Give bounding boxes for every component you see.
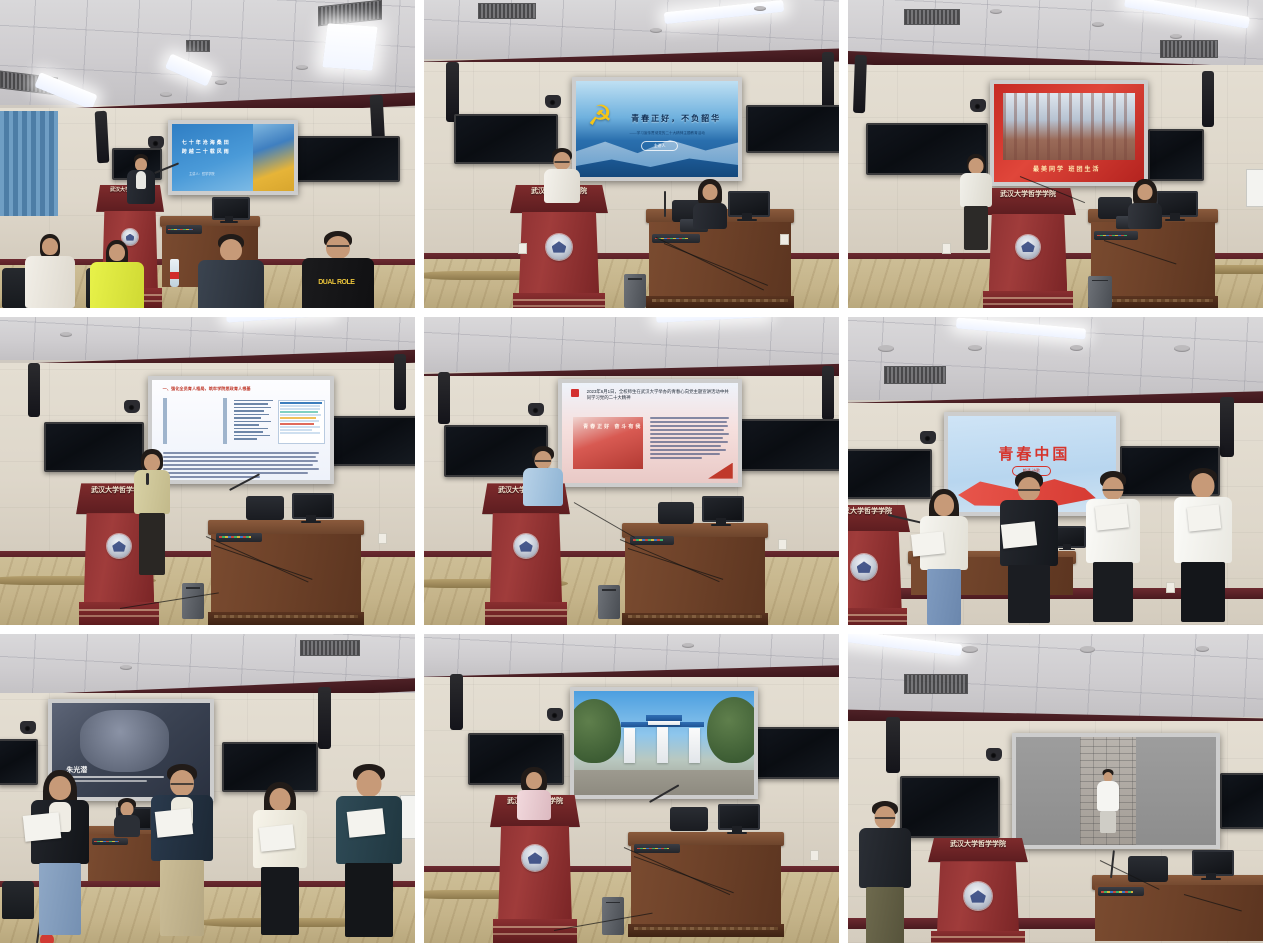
desk-front — [631, 845, 781, 925]
ceiling-vent-icon — [1160, 40, 1218, 58]
reciter-person — [996, 471, 1062, 625]
podium-base — [983, 291, 1073, 308]
ceiling-vent-icon — [186, 40, 210, 52]
glasses-icon — [535, 460, 551, 462]
slide-photo-panel — [1003, 93, 1135, 160]
slide-archway-pillar — [657, 726, 668, 763]
university-emblem-icon — [964, 882, 992, 910]
wall-speaker-icon — [822, 52, 834, 110]
glasses-icon — [1103, 489, 1124, 491]
head — [1138, 184, 1153, 200]
head — [526, 772, 542, 789]
slide-archway-pillar — [689, 728, 700, 763]
legs — [1100, 811, 1116, 833]
smoke-detector-icon — [1170, 34, 1182, 39]
head — [703, 184, 718, 200]
pc-tower — [1088, 276, 1112, 308]
slide-poster-caption: 青春正好 奋斗有我 — [583, 423, 642, 430]
university-emblem-icon — [546, 234, 572, 260]
photo-cell-6: 青春中国 朗诵·诗歌 武汉大学哲学学院 — [848, 317, 1263, 625]
av-console-9 — [1098, 887, 1144, 896]
wall-speaker-icon — [318, 687, 331, 749]
podium-base — [848, 608, 907, 625]
desk-kick — [208, 612, 364, 625]
slide-title: 青春正好，不负韶华 — [631, 113, 721, 124]
water-bottle — [170, 259, 179, 287]
pc-tower — [182, 583, 204, 619]
slide-tree-motif — [707, 697, 758, 764]
smoke-detector-icon — [296, 65, 308, 70]
wall-speaker-icon — [1220, 397, 1234, 457]
photo-cell-8: 武汉大学哲学学院 — [424, 634, 839, 943]
lecture-hall-scene-2: ☭ 青春正好，不负韶华 ——学习宣传贯彻党的二十大精神主题教育活动 主讲人 武汉… — [424, 0, 839, 308]
photo-collage-grid: 七十年沧海桑田 跨越二十载风雨 主讲人：哲学学院 武汉大学哲学学院 — [0, 0, 1268, 952]
torso — [114, 815, 140, 837]
torso — [90, 262, 144, 308]
monitor-stand — [306, 515, 315, 523]
slide-subtitle: 主讲人：哲学学院 — [189, 171, 215, 176]
camera-icon — [148, 136, 164, 149]
smoke-detector-icon — [120, 665, 132, 670]
slide-left-block — [163, 398, 167, 444]
glasses-icon — [327, 245, 349, 247]
av-console-8 — [634, 844, 680, 853]
slide-content-1: 七十年沧海桑田 跨越二十载风雨 主讲人：哲学学院 — [172, 124, 294, 191]
wall-speaker-icon — [853, 55, 867, 113]
side-display-right — [740, 419, 839, 471]
photo-cell-3: 最美同学 班团生活 武汉大学哲学学院 — [848, 0, 1263, 308]
audience-person — [88, 240, 146, 308]
head — [357, 770, 382, 797]
slide-content-2: ☭ 青春正好，不负韶华 ——学习宣传贯彻党的二十大精神主题教育活动 主讲人 — [576, 81, 738, 177]
main-projection-screen-1: 七十年沧海桑田 跨越二十载风雨 主讲人：哲学学院 — [168, 120, 298, 195]
legs — [39, 863, 81, 935]
head — [144, 454, 160, 471]
wall-speaker-icon — [394, 354, 406, 410]
pc-tower — [624, 274, 646, 308]
side-display-left — [44, 422, 144, 472]
torso — [960, 173, 992, 207]
wall-speaker-icon — [1202, 71, 1214, 127]
side-display-left — [900, 776, 1000, 838]
ceiling-light-icon — [322, 23, 377, 70]
handheld-microphone-icon — [146, 473, 149, 485]
podium-6: 武汉大学哲学学院 — [848, 505, 910, 625]
podium-body — [498, 826, 572, 921]
slide-heading: 2023年6月1日，全校师生在武汉大学举办的青春心向党主题宣讲活动中共同学习党的… — [587, 389, 731, 402]
slide-body-text — [650, 417, 729, 461]
head — [1192, 473, 1215, 498]
slide-ground — [574, 770, 754, 795]
main-projection-screen-9 — [1012, 733, 1220, 849]
av-console-1 — [166, 225, 202, 234]
head — [220, 239, 242, 261]
podium-body — [490, 513, 562, 604]
lecture-hall-scene-3: 最美同学 班团生活 武汉大学哲学学院 — [848, 0, 1263, 308]
main-projection-screen-2: ☭ 青春正好，不负韶华 ——学习宣传贯彻党的二十大精神主题教育活动 主讲人 — [572, 77, 742, 181]
ceiling-5 — [424, 317, 839, 372]
window-curtain — [0, 111, 58, 216]
smoke-detector-icon — [650, 28, 662, 33]
wall-speaker-icon — [450, 674, 463, 730]
photo-cell-7: 朱光潜 — [0, 634, 415, 943]
desk-front — [625, 537, 765, 614]
torso — [523, 468, 563, 506]
whiteboard — [1246, 169, 1263, 207]
slide-heading: 一、强化全员育人格局，筑牢学院思政育人根基 — [163, 386, 251, 392]
wall-speaker-icon — [438, 372, 450, 424]
slide-title-line1: 七十年沧海桑田 — [182, 139, 231, 146]
script-paper — [1187, 504, 1221, 531]
podium-label: 武汉大学哲学学院 — [928, 839, 1028, 849]
desk-monitor-5 — [702, 496, 740, 526]
ceiling-vent-icon — [300, 640, 360, 656]
camera-icon — [547, 708, 563, 721]
script-paper — [259, 825, 295, 852]
shirt-graphic: DUAL ROLE — [318, 279, 354, 286]
wall-speaker-icon — [28, 363, 40, 417]
script-paper — [155, 808, 194, 838]
script-paper — [911, 532, 945, 557]
desk-monitor-4 — [292, 493, 330, 523]
script-paper — [23, 812, 62, 842]
desk-monitor-9 — [1192, 850, 1230, 880]
university-emblem-icon — [514, 534, 538, 558]
speaker-person-2 — [542, 148, 582, 222]
slide-caption: 最美同学 班团生活 — [1033, 164, 1101, 173]
chair-back — [1128, 856, 1168, 882]
slide-tree-motif — [570, 699, 621, 763]
slide-archway-plaque — [648, 721, 680, 725]
chair-back — [658, 502, 694, 524]
head — [42, 238, 58, 255]
reciter-person — [332, 764, 406, 943]
podium-base — [485, 602, 568, 625]
glasses-icon — [171, 783, 194, 785]
reciter-person — [1170, 468, 1236, 625]
slide-tree-diagram — [234, 400, 273, 442]
script-paper — [347, 808, 386, 838]
wall-outlet — [778, 539, 787, 550]
university-emblem-icon — [522, 845, 548, 871]
glasses-icon — [1018, 489, 1040, 491]
monitor-stand — [732, 826, 741, 834]
head — [326, 236, 350, 259]
head — [270, 788, 291, 811]
slide-photo-panel — [253, 124, 294, 191]
slide-person-figure — [1088, 769, 1128, 842]
wall-speaker-icon — [822, 366, 834, 420]
main-projection-screen-8 — [570, 687, 758, 799]
torso — [693, 203, 727, 229]
desk-monitor-2 — [728, 191, 766, 221]
presenter-person-4 — [132, 449, 172, 578]
audience-person: DUAL ROLE — [300, 231, 376, 308]
av-console-4 — [216, 533, 262, 542]
photo-cell-5: 2023年6月1日，全校师生在武汉大学举办的青春心向党主题宣讲活动中共同学习党的… — [424, 317, 839, 625]
monitor-stand — [742, 213, 751, 221]
torso — [1097, 781, 1119, 811]
torso — [1128, 203, 1162, 229]
glasses-icon — [555, 161, 570, 163]
legs — [964, 206, 988, 250]
slide-title-line2: 跨越二十载风雨 — [182, 148, 231, 155]
shirt — [136, 171, 146, 189]
podium-base — [931, 931, 1025, 943]
side-display-right — [288, 136, 400, 182]
audience-person — [196, 234, 266, 308]
reciter-person — [1082, 471, 1144, 625]
wall-outlet — [518, 243, 527, 254]
podium-top: 武汉大学哲学学院 — [928, 838, 1028, 862]
camera-icon — [970, 99, 986, 112]
camera-icon — [986, 748, 1002, 761]
slide-archway-pillar — [624, 728, 635, 763]
desk-kick — [646, 296, 794, 308]
slide-content-9 — [1016, 737, 1216, 845]
legs — [1008, 565, 1050, 623]
main-projection-screen-3: 最美同学 班团生活 — [990, 80, 1148, 186]
head — [934, 494, 954, 516]
legs — [261, 867, 299, 935]
photo-cell-1: 七十年沧海桑田 跨越二十载风雨 主讲人：哲学学院 武汉大学哲学学院 — [0, 0, 415, 308]
smoke-detector-icon — [878, 345, 894, 352]
assistant-person-3 — [1126, 179, 1164, 241]
lecture-hall-scene-4: 一、强化全员育人格局，筑牢学院思政育人根基 — [0, 317, 415, 625]
chair-back — [246, 496, 284, 520]
slide-title: 青春中国 — [998, 443, 1070, 464]
lecture-hall-scene-6: 青春中国 朗诵·诗歌 武汉大学哲学学院 — [848, 317, 1263, 625]
slide-subtitle: ——学习宣传贯彻党的二十大精神主题教育活动 — [629, 131, 704, 136]
torso — [198, 260, 264, 308]
wall-speaker-icon — [886, 717, 900, 773]
torso — [517, 790, 551, 820]
reciter-person — [916, 489, 972, 625]
reciter-person — [26, 770, 94, 943]
pc-tower — [598, 585, 620, 619]
cpc-emblem-icon: ☭ — [587, 102, 612, 130]
wall-outlet — [942, 243, 951, 254]
photo-cell-4: 一、强化全员育人格局，筑牢学院思政育人根基 — [0, 317, 415, 625]
legs — [866, 887, 904, 943]
slide-body-text — [163, 452, 320, 480]
photo-cell-9: 武汉大学哲学学院 — [848, 634, 1263, 943]
reciter-person — [146, 764, 218, 943]
lecture-hall-scene-9: 武汉大学哲学学院 — [848, 634, 1263, 943]
legs — [1181, 562, 1225, 622]
head — [121, 802, 134, 816]
slide-content-8 — [574, 691, 754, 795]
desk-monitor-1 — [212, 197, 246, 223]
script-paper — [1001, 521, 1037, 548]
ceiling-vent-icon — [904, 674, 968, 694]
podium-base — [493, 919, 578, 943]
wall-outlet — [810, 850, 819, 861]
podium-3: 武汉大学哲学学院 — [980, 188, 1076, 308]
desk-kick — [628, 924, 784, 937]
legs — [1093, 562, 1133, 622]
script-paper — [1095, 503, 1129, 530]
podium-base — [79, 602, 160, 625]
ceiling-vent-icon — [884, 366, 946, 384]
monitor-stand — [1063, 544, 1070, 550]
pc-tower — [602, 897, 624, 935]
torso — [134, 470, 170, 514]
lecture-hall-scene-7: 朱光潜 — [0, 634, 415, 943]
wall-outlet — [780, 234, 789, 245]
reciter-person — [248, 782, 312, 943]
wall-speaker-icon — [446, 62, 459, 122]
university-emblem-icon — [1016, 235, 1040, 259]
university-emblem-icon — [851, 554, 877, 580]
photo-cell-2: ☭ 青春正好，不负韶华 ——学习宣传贯彻党的二十大精神主题教育活动 主讲人 武汉… — [424, 0, 839, 308]
slide-content-4: 一、强化全员育人格局，筑牢学院思政育人根基 — [152, 380, 330, 480]
torso — [859, 828, 911, 888]
side-display-right — [1220, 773, 1263, 829]
head — [969, 158, 984, 174]
chair-back — [670, 807, 708, 831]
monitor-stand — [1170, 213, 1179, 221]
lecture-hall-scene-8: 武汉大学哲学学院 — [424, 634, 839, 943]
desk-kick — [622, 613, 768, 625]
speaker-person-1 — [124, 154, 158, 246]
podium-label: 武汉大学哲学学院 — [848, 506, 910, 516]
monitor-stand — [1206, 873, 1215, 881]
university-emblem-icon — [107, 534, 131, 558]
slide-mid-block — [223, 398, 227, 444]
head — [49, 776, 71, 800]
operator-person-7 — [112, 798, 142, 841]
ceiling-vent-icon — [478, 3, 536, 19]
assistant-person-2 — [690, 179, 730, 241]
camera-icon — [920, 431, 936, 444]
side-display-right — [330, 416, 415, 466]
side-display-right — [756, 727, 839, 779]
audience-person — [20, 234, 80, 308]
desk-front — [211, 534, 361, 614]
smoke-detector-icon — [1070, 345, 1083, 351]
presenter-person-3 — [958, 154, 994, 259]
wall-outlet — [378, 533, 387, 544]
lecture-hall-scene-1: 七十年沧海桑田 跨越二十载风雨 主讲人：哲学学院 武汉大学哲学学院 — [0, 0, 415, 308]
slide-presenter-pill: 主讲人 — [641, 141, 679, 151]
smoke-detector-icon — [968, 345, 982, 351]
av-console-5 — [630, 536, 674, 545]
torso — [544, 169, 580, 203]
camera-icon — [528, 403, 544, 416]
presenter-person-9 — [856, 801, 914, 943]
slide-content-3: 最美同学 班团生活 — [994, 84, 1144, 182]
camera-icon — [124, 400, 140, 413]
monitor-stand — [716, 518, 725, 526]
main-projection-screen-4: 一、强化全员育人格局，筑牢学院思政育人根基 — [148, 376, 334, 484]
main-projection-screen-5: 2023年6月1日，全校师生在武汉大学举办的青春心向党主题宣讲活动中共同学习党的… — [558, 379, 742, 487]
desk-microphone-icon — [664, 191, 666, 217]
presenter-person-8 — [514, 767, 554, 835]
av-console-7 — [92, 838, 128, 845]
legs — [139, 513, 165, 575]
lecture-hall-scene-5: 2023年6月1日，全校师生在武汉大学举办的青春心向党主题宣讲活动中共同学习党的… — [424, 317, 839, 625]
slide-content-5: 2023年6月1日，全校师生在武汉大学举办的青春心向党主题宣讲活动中共同学习党的… — [562, 383, 738, 483]
slide-data-table — [278, 400, 325, 444]
side-display-right — [746, 105, 839, 153]
torso — [25, 256, 75, 308]
legs — [927, 569, 961, 625]
presenter-person-5 — [522, 446, 564, 526]
smoke-detector-icon — [1174, 345, 1190, 352]
monitor-stand — [225, 216, 233, 223]
smoke-detector-icon — [1092, 22, 1104, 27]
camera-icon — [545, 95, 561, 108]
podium-base — [513, 293, 605, 308]
desk-monitor-8 — [718, 804, 756, 834]
ceiling-vent-icon — [904, 9, 960, 25]
podium-9: 武汉大学哲学学院 — [928, 838, 1028, 943]
legs — [345, 863, 393, 937]
head — [109, 244, 125, 261]
glasses-icon — [875, 817, 895, 819]
camera-icon — [20, 721, 36, 734]
legs — [160, 860, 204, 936]
side-display-right — [1148, 129, 1204, 181]
